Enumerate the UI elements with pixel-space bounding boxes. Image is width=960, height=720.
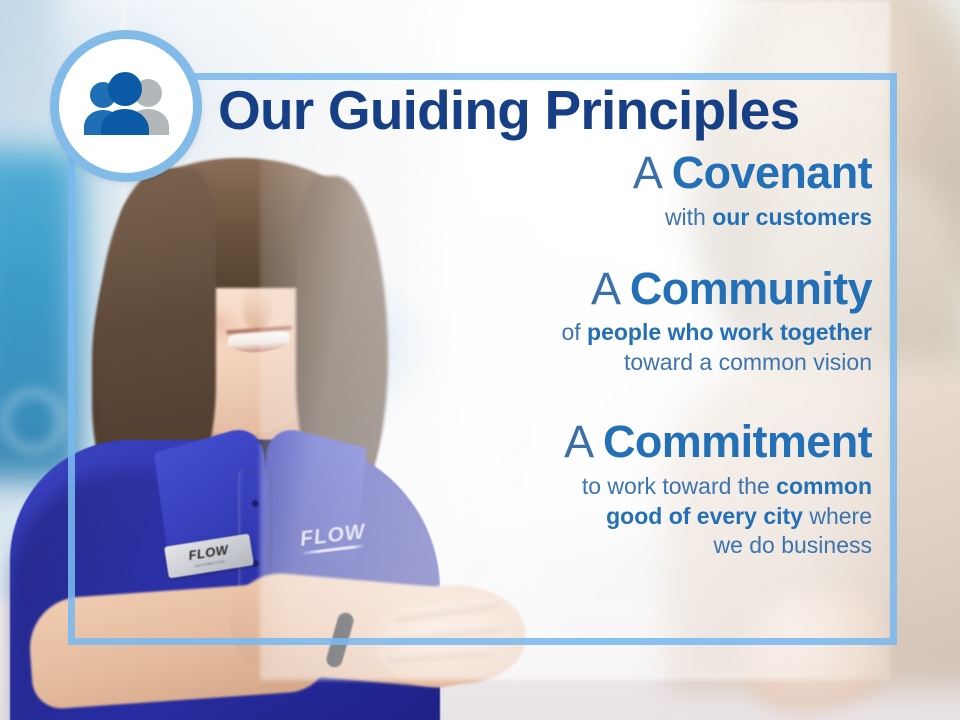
principle-headline-community: A Community [200,265,872,314]
principle-3-sub-line1: to work toward the common [200,472,872,502]
principle-3-sub-line3: we do business [200,531,872,561]
principle-sub-community: of people who work together toward a com… [200,318,872,378]
people-group-icon [78,71,174,141]
principle-sub-commitment: to work toward the common good of every … [200,472,872,562]
principle-2-sub-line1: of people who work together [200,318,872,348]
principle-article-2: A [591,263,630,314]
principle-block-community: A Community of people who work together … [200,265,872,378]
principle-2-sub-line1-a: of [561,319,587,345]
principle-3-sub-line2: good of every city where [200,502,872,532]
principle-sub-covenant: with our customers [200,203,872,233]
principle-3-sub-line1-b: common [776,473,872,499]
principle-3-sub-line1-a: to work toward the [582,473,776,499]
principle-2-sub-line1-b: people who work together [587,319,872,345]
principle-block-commitment: A Commitment to work toward the common g… [200,418,872,561]
principle-3-sub-line2-a: good of every city [606,503,803,529]
principle-keyword-1: Covenant [672,147,872,198]
page-title: Our Guiding Principles [218,82,872,139]
principle-article-1: A [633,147,672,198]
principles-content: Our Guiding Principles A Covenant with o… [200,82,872,561]
principle-headline-covenant: A Covenant [200,149,872,198]
principle-1-sub-line1-b: our customers [712,204,872,230]
principle-keyword-2: Community [630,263,872,314]
guiding-principles-graphic: FLOW AUTOMOTIVE FLOW [0,0,960,720]
principle-3-sub-line2-b: where [803,503,872,529]
principle-headline-commitment: A Commitment [200,418,872,467]
principle-block-covenant: A Covenant with our customers [200,149,872,232]
principle-2-sub-line2: toward a common vision [200,348,872,378]
principle-1-sub-line1-a: with [665,204,712,230]
principle-keyword-3: Commitment [603,416,872,467]
principle-article-3: A [564,416,603,467]
people-group-badge [50,30,202,182]
